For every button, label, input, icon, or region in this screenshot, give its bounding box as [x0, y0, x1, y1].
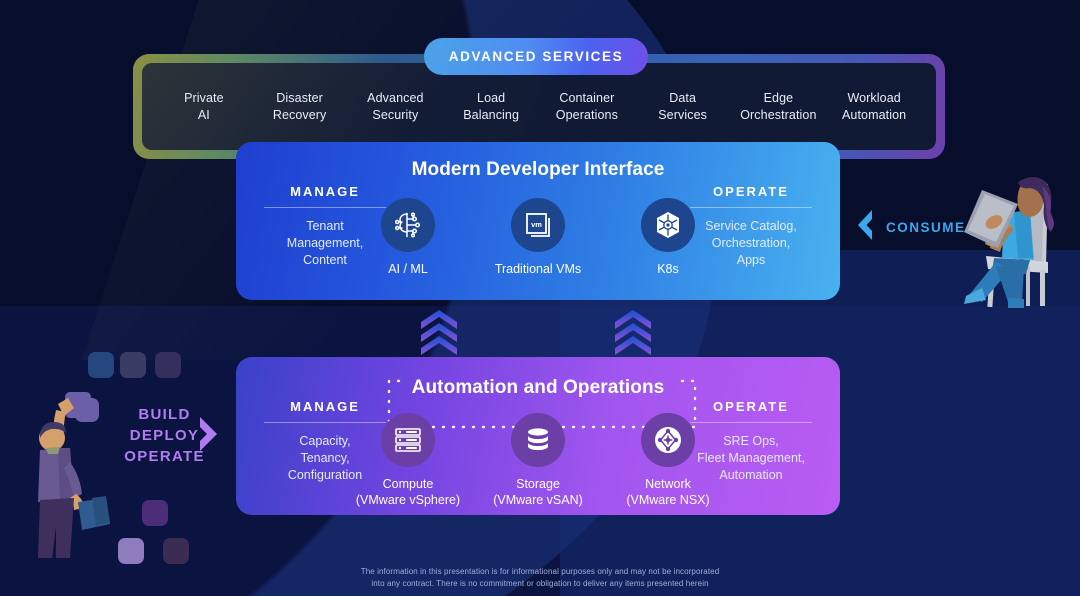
- service-label-line1: Disaster: [252, 90, 348, 107]
- icon-label: Compute (VMware vSphere): [343, 476, 473, 508]
- operate-heading: OPERATE: [676, 184, 826, 199]
- service-label-line1: Edge: [731, 90, 827, 107]
- network-nodes-icon: [641, 413, 695, 467]
- automation-operations-panel: Automation and Operations MANAGE Capacit…: [236, 357, 840, 515]
- top-panel-icon-row: AI / ML vm Traditional VMs: [236, 198, 840, 277]
- decor-square: [88, 352, 114, 378]
- icon-label-line2: (VMware NSX): [603, 492, 733, 508]
- panel-title: Automation and Operations: [236, 377, 840, 399]
- kubernetes-helm-icon: [641, 198, 695, 252]
- icon-label-line1: Network: [603, 476, 733, 492]
- database-stack-icon: [511, 413, 565, 467]
- chevron-left-icon: [852, 208, 876, 247]
- chevron-right-icon: [196, 415, 222, 458]
- service-label-line2: AI: [156, 107, 252, 124]
- operate-heading: OPERATE: [676, 399, 826, 414]
- manage-heading: MANAGE: [250, 184, 400, 199]
- decor-square: [155, 352, 181, 378]
- bottom-panel-icon-row: Compute (VMware vSphere) Storage (VMware…: [236, 413, 840, 508]
- disclaimer-line1: The information in this presentation is …: [0, 566, 1080, 578]
- standing-person-illustration: [30, 390, 140, 565]
- svg-text:vm: vm: [531, 220, 542, 229]
- modern-developer-interface-panel: Modern Developer Interface MANAGE Tenant…: [236, 142, 840, 300]
- panel-title: Modern Developer Interface: [236, 159, 840, 181]
- icon-cell-network[interactable]: Network (VMware NSX): [603, 413, 733, 508]
- icon-label: Traditional VMs: [473, 261, 603, 277]
- decor-square: [142, 500, 168, 526]
- advanced-services-inner: Private AI Disaster Recovery Advanced Se…: [142, 63, 936, 150]
- service-label-line2: Orchestration: [731, 107, 827, 124]
- disclaimer-line2: into any contract. There is no commitmen…: [0, 578, 1080, 590]
- advanced-service-item[interactable]: Edge Orchestration: [731, 90, 827, 124]
- icon-cell-ai-ml[interactable]: AI / ML: [343, 198, 473, 277]
- service-label-line1: Private: [156, 90, 252, 107]
- advanced-service-item[interactable]: Load Balancing: [443, 90, 539, 124]
- icon-label-line1: AI / ML: [343, 261, 473, 277]
- ai-brain-circuit-icon: [381, 198, 435, 252]
- manage-heading: MANAGE: [250, 399, 400, 414]
- service-label-line1: Container: [539, 90, 635, 107]
- icon-label: AI / ML: [343, 261, 473, 277]
- service-label-line1: Data: [635, 90, 731, 107]
- disclaimer-text: The information in this presentation is …: [0, 566, 1080, 590]
- server-rack-icon: [381, 413, 435, 467]
- service-label-line1: Advanced: [348, 90, 444, 107]
- icon-label-line1: K8s: [603, 261, 733, 277]
- icon-label: Storage (VMware vSAN): [473, 476, 603, 508]
- decor-square: [120, 352, 146, 378]
- icon-label-line2: (VMware vSphere): [343, 492, 473, 508]
- icon-label-line1: Storage: [473, 476, 603, 492]
- service-label-line2: Security: [348, 107, 444, 124]
- icon-label: K8s: [603, 261, 733, 277]
- advanced-services-list: Private AI Disaster Recovery Advanced Se…: [142, 63, 936, 150]
- slide-canvas: Private AI Disaster Recovery Advanced Se…: [0, 0, 1080, 596]
- seated-person-illustration: [930, 170, 1075, 315]
- icon-cell-k8s[interactable]: K8s: [603, 198, 733, 277]
- advanced-service-item[interactable]: Private AI: [156, 90, 252, 124]
- service-label-line2: Operations: [539, 107, 635, 124]
- triple-chevron-up-icon: [419, 310, 459, 356]
- advanced-services-pill[interactable]: ADVANCED SERVICES: [424, 38, 648, 75]
- advanced-service-item[interactable]: Data Services: [635, 90, 731, 124]
- icon-label-line2: (VMware vSAN): [473, 492, 603, 508]
- icon-cell-traditional-vms[interactable]: vm Traditional VMs: [473, 198, 603, 277]
- icon-cell-compute[interactable]: Compute (VMware vSphere): [343, 413, 473, 508]
- advanced-service-item[interactable]: Workload Automation: [826, 90, 922, 124]
- triple-chevron-up-icon: [613, 310, 653, 356]
- service-label-line1: Load: [443, 90, 539, 107]
- service-label-line2: Balancing: [443, 107, 539, 124]
- advanced-service-item[interactable]: Advanced Security: [348, 90, 444, 124]
- advanced-services-pill-label: ADVANCED SERVICES: [449, 49, 623, 64]
- advanced-service-item[interactable]: Container Operations: [539, 90, 635, 124]
- service-label-line2: Services: [635, 107, 731, 124]
- icon-cell-storage[interactable]: Storage (VMware vSAN): [473, 413, 603, 508]
- icon-label-line1: Compute: [343, 476, 473, 492]
- decor-square: [163, 538, 189, 564]
- virtual-machine-icon: vm: [511, 198, 565, 252]
- advanced-service-item[interactable]: Disaster Recovery: [252, 90, 348, 124]
- service-label-line2: Automation: [826, 107, 922, 124]
- service-label-line1: Workload: [826, 90, 922, 107]
- icon-label: Network (VMware NSX): [603, 476, 733, 508]
- icon-label-line1: Traditional VMs: [473, 261, 603, 277]
- service-label-line2: Recovery: [252, 107, 348, 124]
